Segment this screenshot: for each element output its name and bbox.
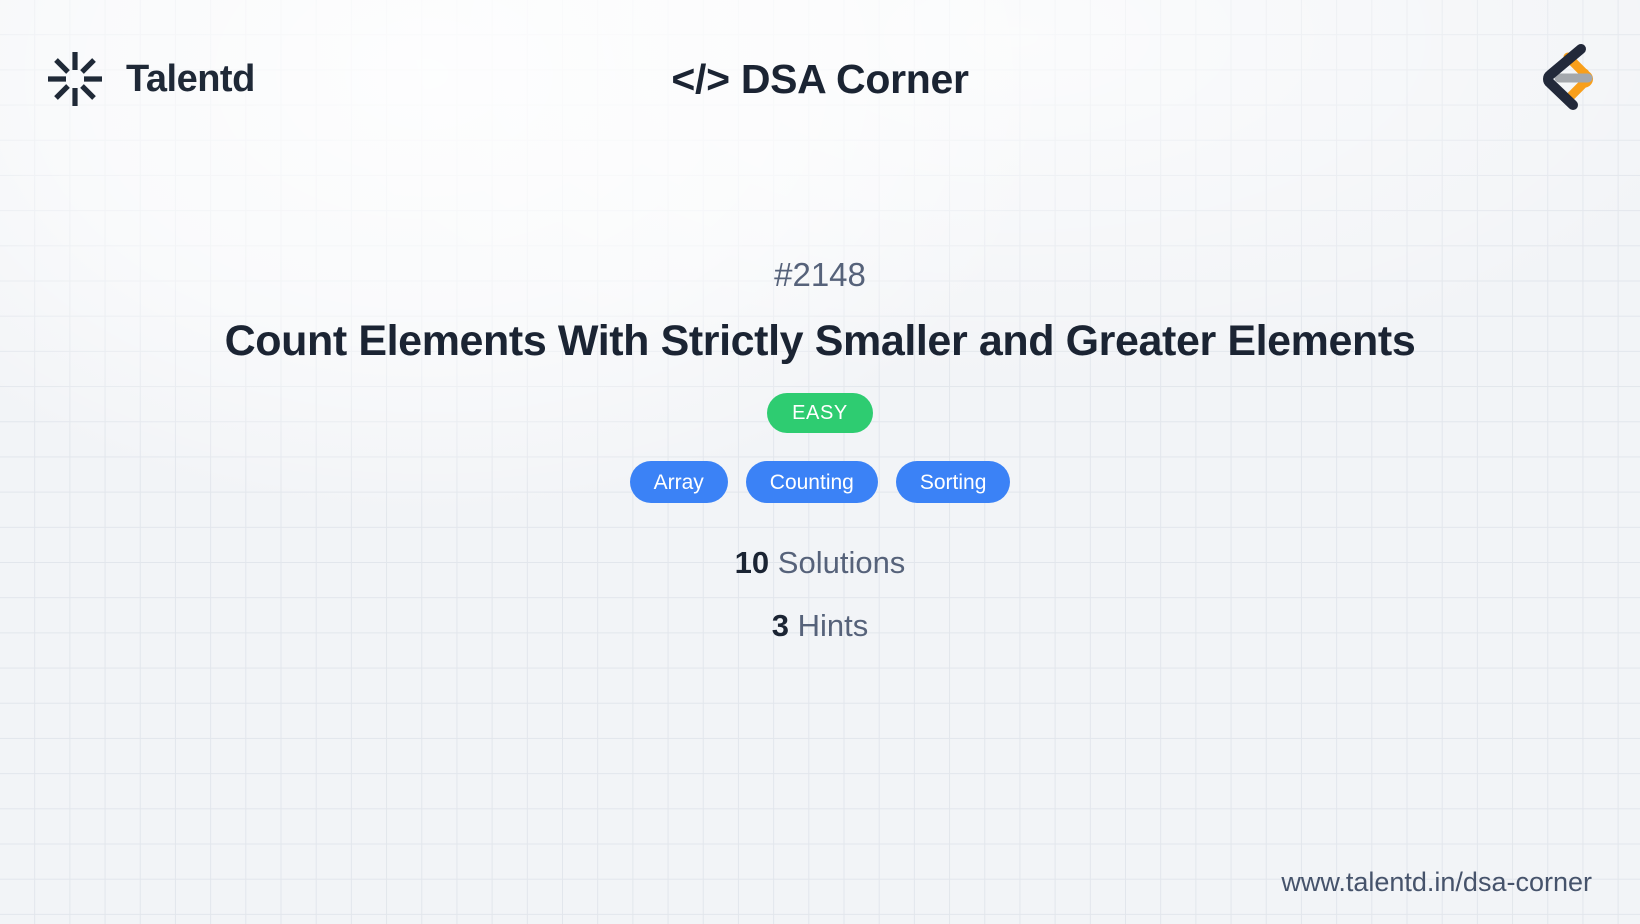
problem-summary: #2148 Count Elements With Strictly Small… (0, 258, 1640, 641)
brand-logo[interactable]: Talentd (44, 48, 255, 110)
tag-list: Array Counting Sorting (630, 461, 1011, 503)
solutions-stat: 10 Solutions (735, 547, 906, 578)
header-bar: Talentd </> DSA Corner (0, 0, 1640, 158)
hints-stat: 3 Hints (772, 610, 869, 641)
asterisk-starburst-icon (44, 48, 106, 110)
solutions-label: Solutions (778, 545, 906, 580)
tag-pill-sorting[interactable]: Sorting (896, 461, 1011, 503)
problem-title: Count Elements With Strictly Smaller and… (165, 317, 1476, 365)
code-brackets-icon: </> (671, 56, 729, 102)
hints-label: Hints (798, 608, 869, 643)
dsa-problem-card: Talentd </> DSA Corner #2148 Count Eleme… (0, 0, 1640, 924)
tag-pill-array[interactable]: Array (630, 461, 728, 503)
tag-pill-counting[interactable]: Counting (746, 461, 878, 503)
problem-number: #2148 (774, 258, 866, 291)
brand-name-label: Talentd (126, 60, 255, 98)
solutions-count: 10 (735, 545, 769, 580)
hints-count: 3 (772, 608, 789, 643)
leetcode-logo-icon (1524, 39, 1596, 119)
footer-url[interactable]: www.talentd.in/dsa-corner (1281, 869, 1592, 896)
difficulty-badge: EASY (767, 393, 873, 433)
page-title-label: DSA Corner (741, 56, 969, 102)
